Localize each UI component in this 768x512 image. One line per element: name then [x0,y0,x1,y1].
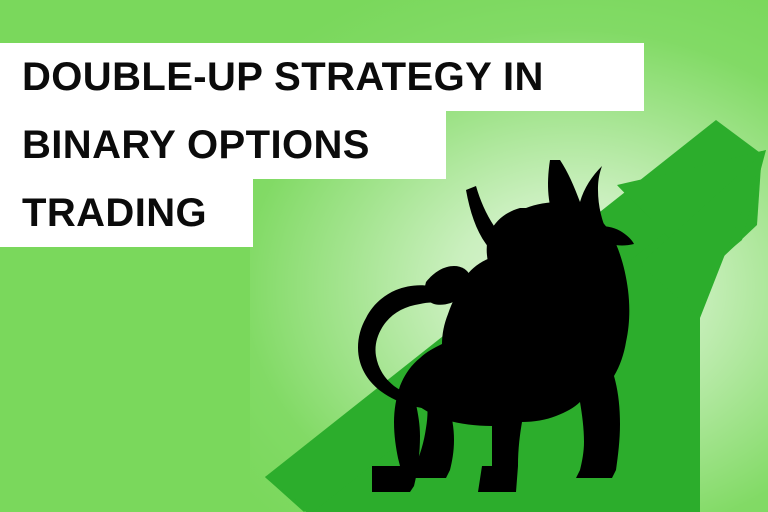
headline-line-1: DOUBLE-UP STRATEGY IN [0,43,644,111]
promo-banner: DOUBLE-UP STRATEGY IN BINARY OPTIONS TRA… [0,0,768,512]
headline-line-2: BINARY OPTIONS [0,111,446,179]
headline-line-3: TRADING [0,179,253,247]
headline-block: DOUBLE-UP STRATEGY IN BINARY OPTIONS TRA… [0,43,660,247]
